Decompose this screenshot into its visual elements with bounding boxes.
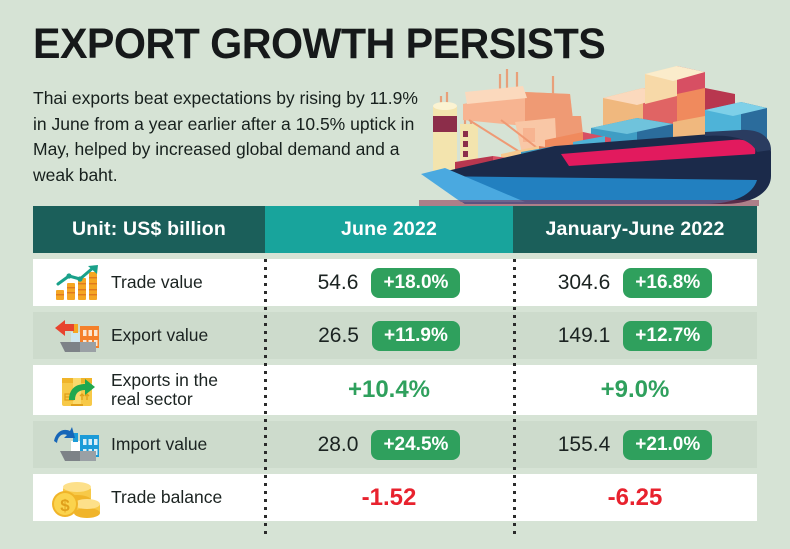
- jan-value: 304.6: [558, 271, 611, 295]
- column-separator-2: [513, 259, 516, 535]
- row-january-june-cell: +9.0%: [513, 365, 757, 415]
- row-january-june-cell: 155.4 +21.0%: [513, 421, 757, 468]
- table-header-row: Unit: US$ billion June 2022 January-June…: [33, 206, 757, 253]
- bar-chart-growth-icon: [49, 261, 105, 305]
- row-label: Trade value: [105, 273, 203, 292]
- jan-balance-value: -6.25: [608, 484, 663, 512]
- export-factory-icon: [49, 314, 105, 358]
- column-header-unit: Unit: US$ billion: [33, 206, 265, 253]
- june-percent-badge: +18.0%: [371, 268, 460, 298]
- coins-dollar-icon: $: [49, 476, 105, 520]
- june-value: 28.0: [318, 433, 359, 457]
- row-label-cell: Import value: [33, 421, 265, 468]
- row-label: Trade balance: [105, 488, 222, 507]
- june-percent-badge: +11.9%: [372, 321, 460, 351]
- june-balance-value: -1.52: [362, 484, 417, 512]
- jan-percent-badge: +12.7%: [623, 321, 712, 351]
- row-june-cell: 26.5 +11.9%: [265, 312, 513, 359]
- export-data-table: Unit: US$ billion June 2022 January-June…: [33, 206, 757, 521]
- row-june-cell: 54.6 +18.0%: [265, 259, 513, 306]
- subtitle-text: Thai exports beat expectations by rising…: [33, 86, 423, 188]
- export-box-icon: [49, 368, 105, 412]
- table-row: Exports in thereal sector +10.4% +9.0%: [33, 365, 757, 415]
- jan-value: 155.4: [558, 433, 611, 457]
- row-label: Import value: [105, 435, 207, 454]
- table-row: Export value 26.5 +11.9% 149.1 +12.7%: [33, 312, 757, 359]
- june-percent-value: +10.4%: [348, 376, 430, 404]
- row-label-cell: Trade value: [33, 259, 265, 306]
- cargo-ship-illustration: [405, 36, 775, 208]
- row-june-cell: +10.4%: [265, 365, 513, 415]
- june-value: 26.5: [318, 324, 359, 348]
- table-row: Trade value 54.6 +18.0% 304.6 +16.8%: [33, 259, 757, 306]
- row-label: Export value: [105, 326, 208, 345]
- row-january-june-cell: -6.25: [513, 474, 757, 521]
- row-label-cell: $ Trade balance: [33, 474, 265, 521]
- row-label-cell: Exports in thereal sector: [33, 365, 265, 415]
- row-january-june-cell: 149.1 +12.7%: [513, 312, 757, 359]
- svg-text:$: $: [60, 496, 70, 515]
- jan-percent-value: +9.0%: [601, 376, 670, 404]
- jan-value: 149.1: [558, 324, 611, 348]
- table-row: $ Trade balance -1.52 -6.25: [33, 474, 757, 521]
- jan-percent-badge: +16.8%: [623, 268, 712, 298]
- column-header-january-june: January-June 2022: [513, 206, 757, 253]
- import-factory-icon: [49, 423, 105, 467]
- june-value: 54.6: [318, 271, 359, 295]
- header-zone: EXPORT GROWTH PERSISTS Thai exports beat…: [0, 0, 790, 205]
- row-label-cell: Export value: [33, 312, 265, 359]
- column-header-june: June 2022: [265, 206, 513, 253]
- table-row: Import value 28.0 +24.5% 155.4 +21.0%: [33, 421, 757, 468]
- june-percent-badge: +24.5%: [371, 430, 460, 460]
- row-label: Exports in thereal sector: [105, 371, 218, 409]
- row-june-cell: -1.52: [265, 474, 513, 521]
- row-january-june-cell: 304.6 +16.8%: [513, 259, 757, 306]
- jan-percent-badge: +21.0%: [623, 430, 712, 460]
- row-june-cell: 28.0 +24.5%: [265, 421, 513, 468]
- column-separator-1: [264, 259, 267, 535]
